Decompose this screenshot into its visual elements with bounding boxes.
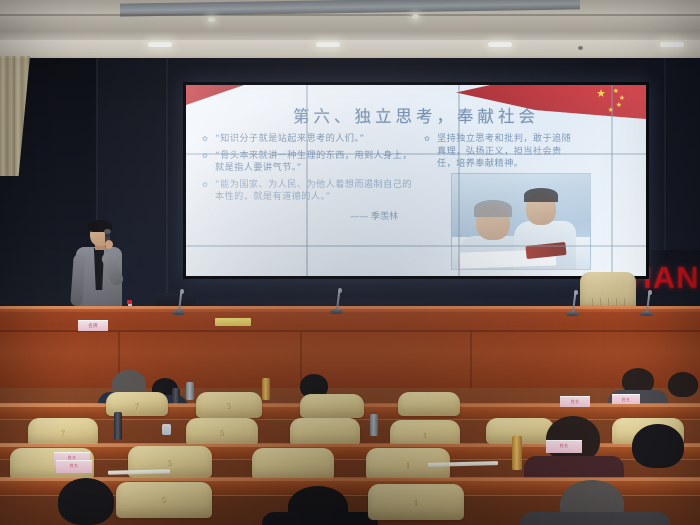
seat-number: 1	[390, 431, 460, 440]
wall-seam	[664, 58, 666, 258]
thermos-flask	[512, 436, 522, 470]
audience-chair	[300, 394, 364, 418]
speaker-hand	[105, 240, 113, 249]
wall-seam	[166, 58, 168, 308]
drinking-cup	[162, 424, 171, 435]
flag-star-icon: ★	[613, 88, 619, 95]
audience-name-card-text: 姓名	[612, 397, 640, 403]
seat-number: 1	[368, 498, 464, 507]
audience-head	[668, 372, 698, 397]
audience-chair: 5	[116, 482, 212, 518]
audience-name-card: 姓名	[560, 396, 590, 407]
photo-person-elder-hair	[474, 200, 512, 217]
desk-name-placard: 名牌	[78, 320, 108, 331]
thermos-flask	[114, 412, 122, 440]
thermos-flask	[262, 378, 270, 400]
audience-chair	[290, 418, 360, 446]
thermos-flask	[370, 414, 378, 436]
audience-chair	[398, 392, 460, 416]
flag-decoration-left-icon	[186, 85, 244, 105]
screen-bezel-seam	[306, 85, 308, 276]
mic-stem	[572, 292, 576, 312]
ceiling-spot-icon	[412, 14, 419, 19]
downlight-icon	[148, 42, 172, 47]
seat-number: 5	[186, 429, 258, 438]
mic-stem	[336, 290, 340, 310]
screen-bezel-seam	[186, 153, 646, 155]
audience-head	[58, 478, 114, 525]
audience-name-card-text: 姓名	[56, 463, 92, 469]
audience-name-card-text: 姓名	[560, 399, 590, 405]
downlight-icon	[316, 42, 340, 47]
seat-number: 5	[128, 459, 212, 468]
screen-bezel-seam	[458, 85, 460, 276]
ceiling-seam	[0, 14, 700, 16]
gooseneck-microphone	[330, 288, 343, 314]
gooseneck-microphone	[640, 290, 653, 316]
audience-chair: 7	[28, 418, 98, 446]
audience-head	[632, 424, 684, 468]
mic-capsule-icon	[648, 290, 652, 295]
microphone-head-icon	[104, 229, 111, 234]
ceiling-spot-icon	[208, 17, 215, 22]
lecture-hall-photo: CHAN ★ ★ ★ ★ ★ 第六、独立思考，奉献社会 “知识分子就是站起来思考…	[0, 0, 700, 525]
screen-bezel-seam	[611, 85, 613, 276]
desk-panel-line	[470, 332, 472, 390]
slide-bullet: “能为国家、为人民、为他人着想而遏制自己的本性的，就是有道德的人。”	[202, 179, 420, 204]
audience-name-card: 姓名	[612, 394, 640, 404]
thermos-flask	[186, 382, 194, 400]
seat-number: 7	[106, 402, 168, 411]
video-wall[interactable]: ★ ★ ★ ★ ★ 第六、独立思考，奉献社会 “知识分子就是站起来思考的人们。”…	[183, 82, 649, 279]
audience-chair: 5	[186, 418, 258, 446]
audience-chair: 5	[196, 392, 262, 418]
bottle-cap	[127, 300, 132, 304]
gooseneck-microphone	[566, 290, 579, 316]
downlight-icon	[660, 42, 684, 47]
seat-number: 5	[116, 496, 212, 505]
presentation-slide: ★ ★ ★ ★ ★ 第六、独立思考，奉献社会 “知识分子就是站起来思考的人们。”…	[186, 85, 646, 276]
slide-bullet: “知识分子就是站起来思考的人们。”	[202, 133, 420, 146]
slide-attribution: —— 季羡林	[202, 209, 420, 222]
ceiling-sensor-icon	[578, 46, 583, 50]
slide-bullet: 坚持独立思考和批判，敢于追随真理，弘扬正义，担当社会责任，培养奉献精神。	[424, 133, 574, 171]
gooseneck-microphone	[172, 289, 185, 315]
mic-capsule-icon	[180, 289, 184, 294]
seat-number: 5	[196, 402, 262, 411]
flag-star-icon: ★	[596, 91, 606, 98]
mic-stem	[178, 291, 182, 311]
yellow-folder	[215, 318, 251, 326]
mic-stem	[646, 292, 650, 312]
audience-name-card: 姓名	[56, 460, 92, 473]
audience-name-card-text: 姓名	[546, 443, 582, 449]
mic-capsule-icon	[338, 288, 342, 293]
slide-photo	[451, 173, 591, 270]
slide-title: 第六、独立思考，奉献社会	[186, 103, 646, 127]
downlight-icon	[488, 42, 512, 47]
stage-desk-highlight	[0, 306, 700, 309]
screen-bezel-seam	[186, 245, 646, 247]
audience-name-card: 姓名	[546, 440, 582, 453]
flag-star-icon: ★	[619, 95, 625, 102]
slide-left-column: “知识分子就是站起来思考的人们。” “骨头本来就讲一种生理的东西，用到人身上，就…	[202, 133, 420, 222]
desk-name-placard-text: 名牌	[78, 323, 108, 329]
mic-capsule-icon	[574, 290, 578, 295]
audience-shoulders	[262, 512, 378, 525]
audience-shoulders	[520, 512, 670, 525]
photo-person-visitor-hair	[524, 188, 558, 202]
speaker-person	[72, 222, 130, 317]
seat-number: 7	[28, 429, 98, 438]
audience-chair: 1	[368, 484, 464, 520]
audience-chair	[252, 448, 334, 480]
